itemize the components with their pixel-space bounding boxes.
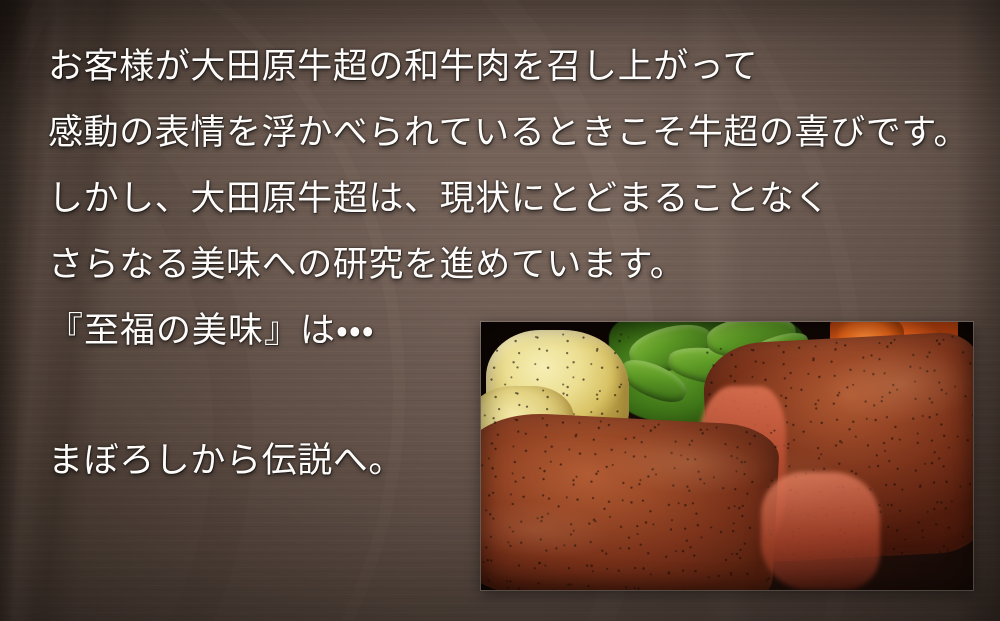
steak-highlight <box>481 410 781 590</box>
steak-plate-scene <box>481 322 973 590</box>
copy-line-1: お客様が大田原牛超の和牛肉を召し上がって <box>48 34 978 100</box>
steak-rare-interior <box>761 472 879 590</box>
copy-line-2: 感動の表情を浮かべられているときこそ牛超の喜びです。 <box>48 100 978 166</box>
promo-slide: お客様が大田原牛超の和牛肉を召し上がって 感動の表情を浮かべられているときこそ牛… <box>0 0 1000 621</box>
steak-piece-left <box>481 410 781 590</box>
copy-line-4: さらなる美味への研究を進めています。 <box>48 232 978 298</box>
copy-line-3: しかし、大田原牛超は、現状にとどまることなく <box>48 166 978 232</box>
wagyu-steak-photo <box>481 322 973 590</box>
